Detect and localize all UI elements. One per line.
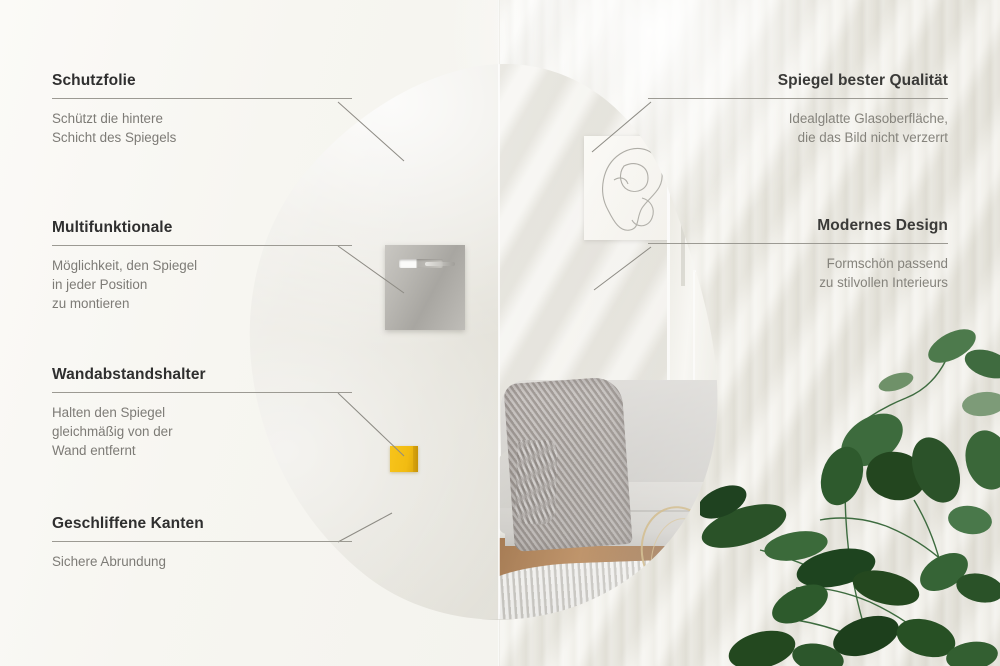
mounting-bracket-plate <box>385 245 465 330</box>
reflected-rug <box>499 558 729 620</box>
mirror-product <box>247 58 729 620</box>
mirror-reflection-scene <box>499 58 729 620</box>
reflected-wall-edge <box>681 166 685 286</box>
wall-spacer-block <box>390 446 418 472</box>
mirror-shape <box>247 58 729 620</box>
wall-spacer-side <box>413 446 418 472</box>
foliage-plant <box>700 320 1000 666</box>
mirror-split-seam <box>498 58 500 620</box>
reflected-throw-fringe <box>515 440 558 525</box>
reflected-books <box>658 558 723 580</box>
line-art-poster <box>584 136 676 240</box>
infographic-canvas: Schutzfolie Schützt die hintere Schicht … <box>0 0 1000 666</box>
poster-artwork-icon <box>584 136 676 240</box>
reflected-knit-throw <box>503 376 632 552</box>
bracket-slot-shadow <box>425 262 455 266</box>
